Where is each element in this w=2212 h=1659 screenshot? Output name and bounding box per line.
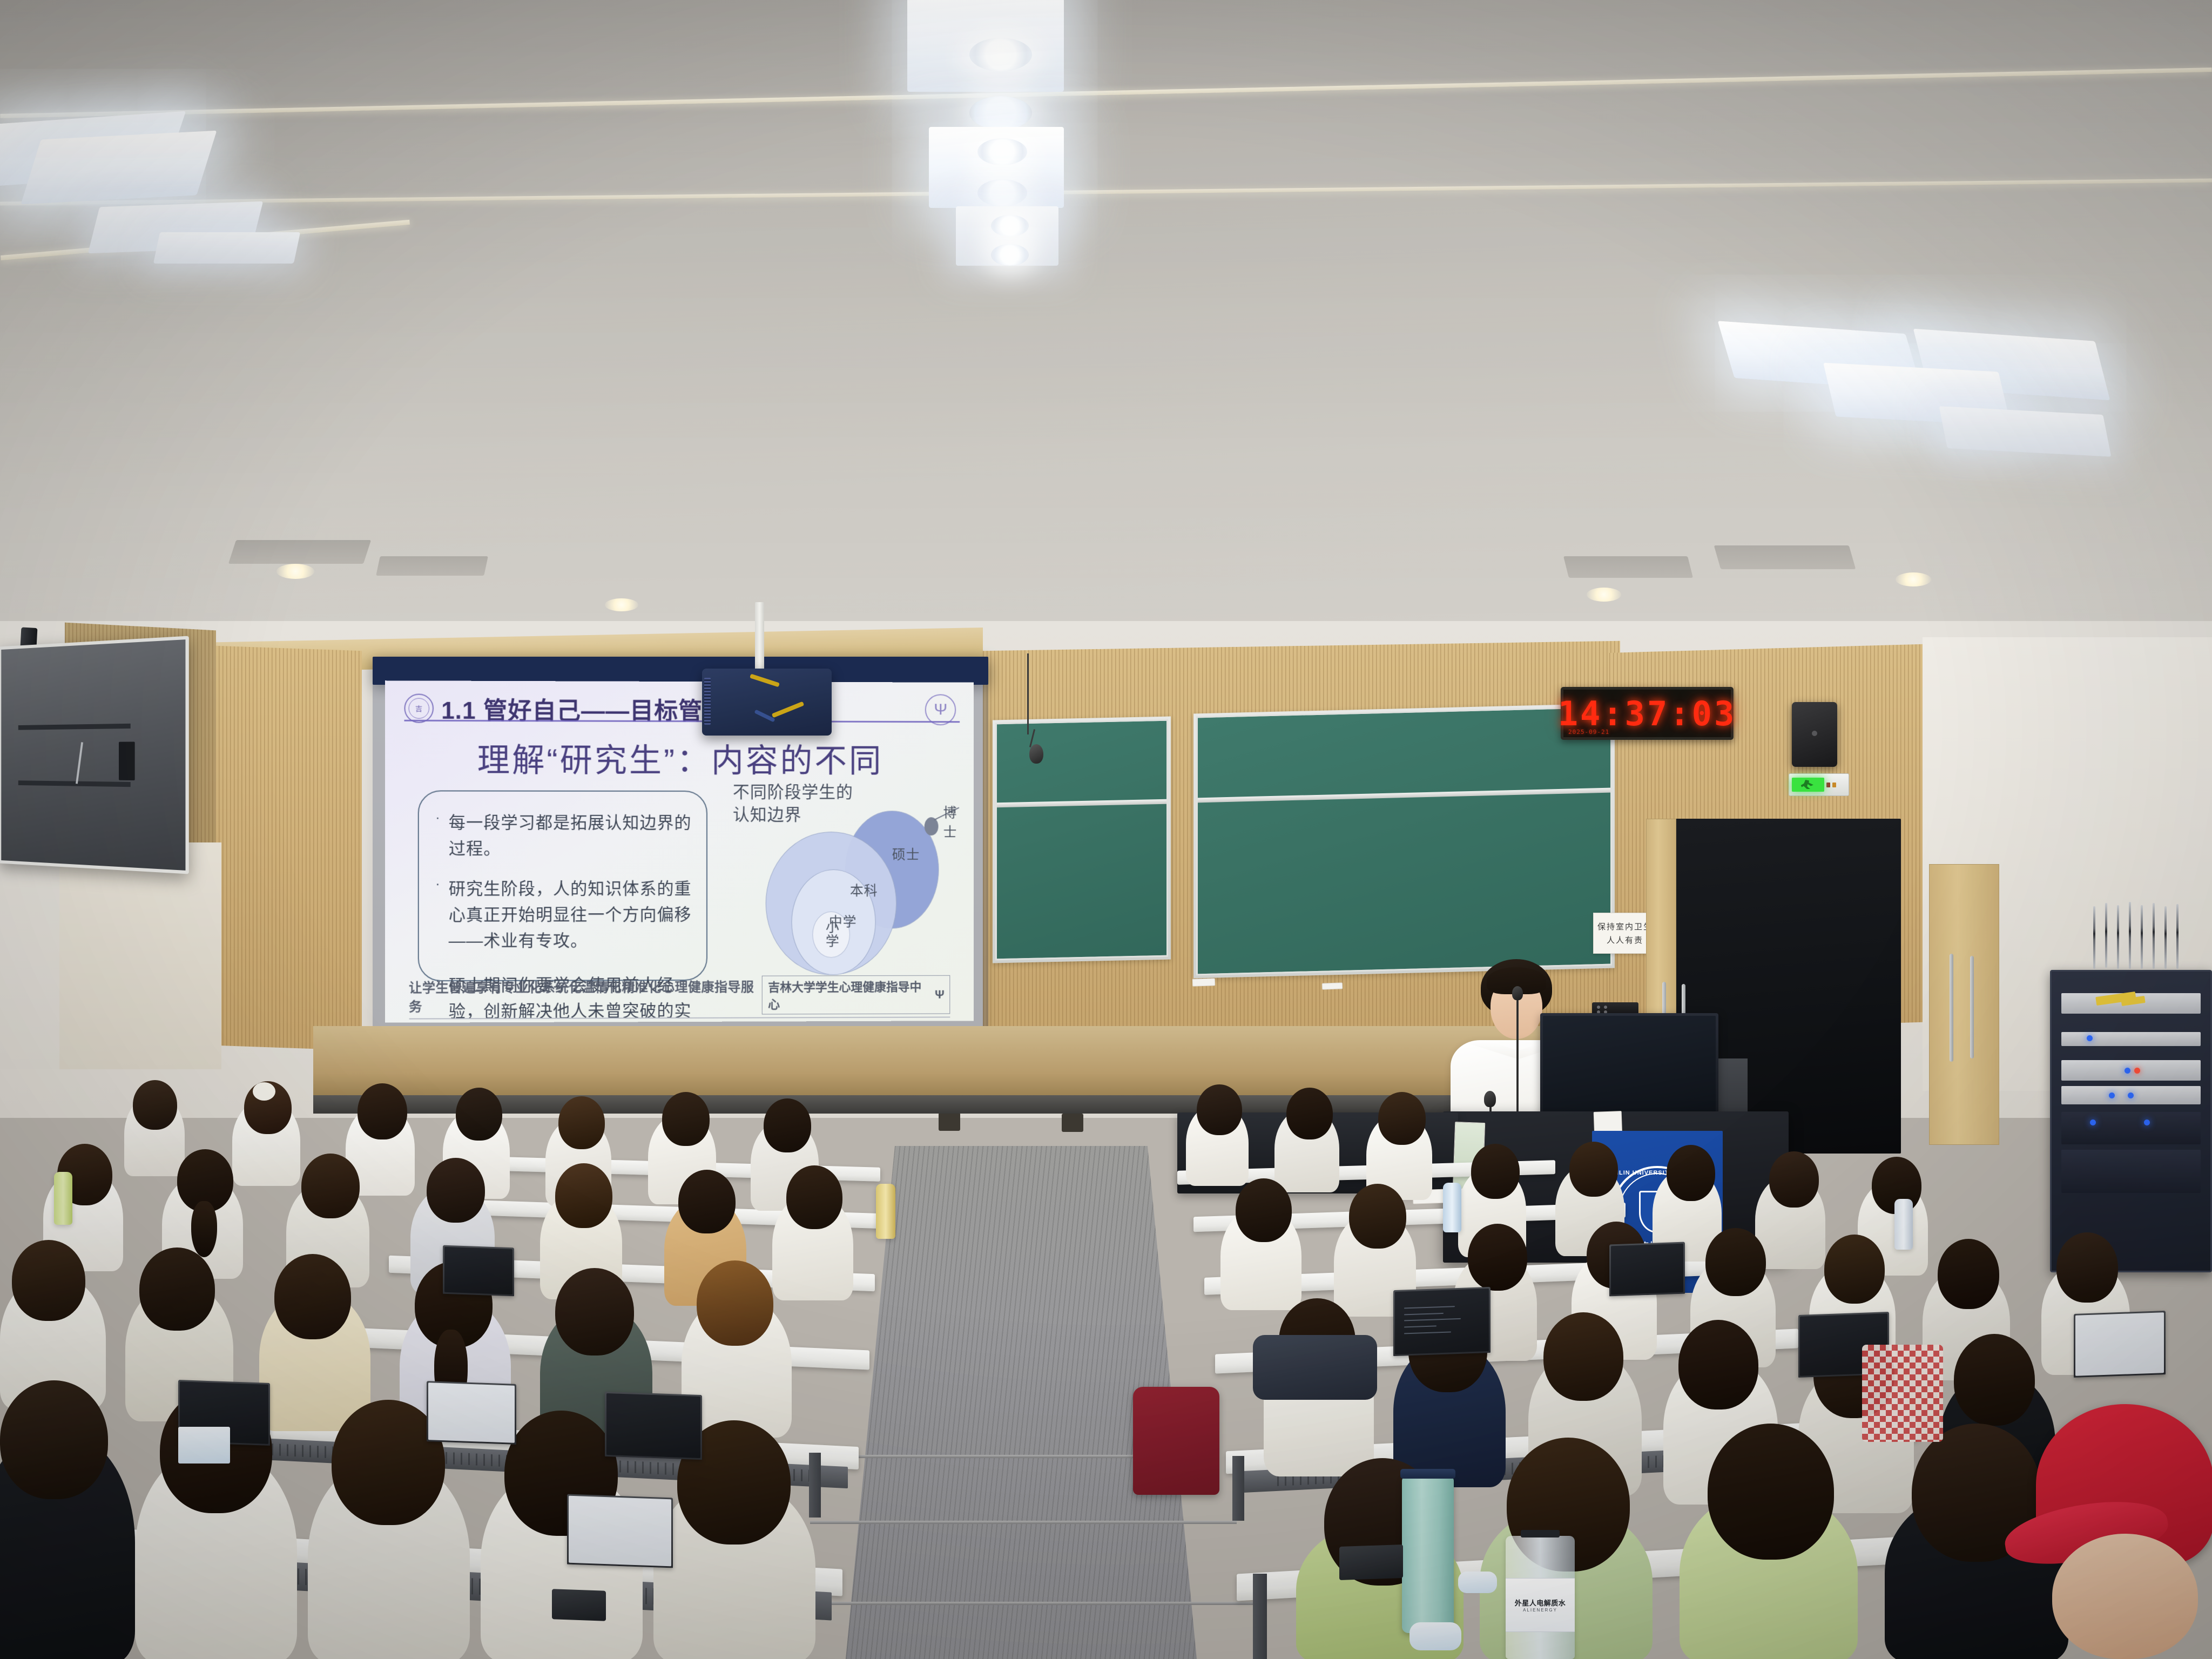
wall-speaker [1792, 702, 1837, 767]
audience-head [1569, 1142, 1618, 1197]
student-laptop[interactable] [1609, 1242, 1685, 1297]
audience-head [133, 1080, 177, 1130]
slide-footer: 让学生普遍享有专业化系统化温情化精准化心理健康指导服务 吉林大学学生心理健康指导… [385, 975, 974, 1016]
audience-head [456, 1088, 502, 1141]
bullet-dot-icon: · [435, 876, 440, 892]
audience-head [1378, 1092, 1426, 1145]
bottle-brand-en: ALIENERGY [1523, 1608, 1557, 1613]
drink-bottle [1443, 1183, 1461, 1232]
audience-head [274, 1254, 351, 1339]
laptop-screen [569, 1496, 671, 1567]
audience-head [1543, 1312, 1623, 1401]
venn-doctor-dot [925, 817, 939, 835]
wall-socket [939, 1112, 960, 1131]
audience-head [555, 1268, 634, 1355]
running-man-icon [1792, 778, 1824, 792]
aisle-step-edge [786, 1602, 1262, 1605]
tv-cable [76, 742, 83, 784]
slide-footer-org: 吉林大学学生心理健康指导中心 [768, 977, 930, 1013]
audience-head [1705, 1228, 1766, 1296]
student-laptop[interactable] [1393, 1287, 1491, 1356]
wood-wall-left [200, 645, 362, 1050]
bullet-text: 每一段学习都是拓展认知边界的过程。 [449, 810, 692, 862]
rack-antenna-icon [2117, 905, 2119, 969]
rack-unit-blank-1 [2061, 1112, 2201, 1144]
code-line [1404, 1325, 1436, 1327]
slide-bullet-box: · 每一段学习都是拓展认知边界的过程。 · 研究生阶段，人的知识体系的重心真正开… [418, 790, 707, 982]
wall-mounted-tv-back [0, 636, 189, 874]
rack-led-indicator [2144, 1120, 2150, 1125]
rack-unit-amp-1 [2061, 1060, 2201, 1081]
lectern-microphone-head-icon [1484, 1091, 1496, 1107]
chalkboard-left [993, 717, 1171, 963]
lectern-monitor-screen [1543, 1016, 1716, 1116]
stage-front-edge [313, 1095, 1642, 1114]
plate-indicator-icon [1597, 1006, 1600, 1009]
desk-leg [1253, 1574, 1267, 1659]
ceiling-recess-left2 [376, 556, 488, 576]
ceiling-downlight-2 [969, 96, 1032, 130]
projection-screen: 吉 1.1 管好自己——目标管理 Ψ 理解“研究生”：内容的不同 · 每一段学习… [385, 680, 974, 1023]
ceiling-light-panel-left-near2 [153, 232, 300, 264]
audience-head [555, 1163, 612, 1228]
laptop-screen [444, 1247, 512, 1294]
notice-line-1: 保持室内卫生 [1597, 921, 1653, 932]
audience-head [1286, 1088, 1333, 1139]
ceiling-recess-right2 [1714, 545, 1856, 569]
ceiling-light-cove-3 [0, 179, 2212, 206]
projector-cable-icon [772, 702, 804, 718]
plate-indicator-icon [1604, 1006, 1607, 1009]
code-line [1404, 1306, 1455, 1309]
audience-head [1769, 1151, 1819, 1208]
tumbler-lid [1400, 1469, 1455, 1479]
rack-led-indicator [2087, 1035, 2093, 1041]
audience-head [662, 1092, 710, 1146]
ceiling-light-cove-2 [0, 68, 2211, 118]
aisle-step-edge [810, 1521, 1237, 1524]
ceiling-spot-4 [1587, 588, 1621, 602]
laptop-screen [428, 1382, 515, 1443]
audience-head [1236, 1178, 1292, 1242]
ceiling-downlight-1 [969, 38, 1032, 71]
clock-time-display: 14:37:03 [1558, 694, 1737, 733]
university-seal-icon: 吉 [404, 693, 434, 723]
tissue-wad [1458, 1572, 1497, 1593]
tv-port-panel [119, 741, 135, 780]
hanging-microphone [1025, 653, 1047, 767]
chalkboard-right [1193, 703, 1615, 978]
slide-footer-org-box: 吉林大学学生心理健康指导中心 Ψ [762, 975, 950, 1015]
rack-antenna-icon [2129, 902, 2131, 969]
student-laptop[interactable] [427, 1381, 516, 1445]
ceiling-light-panel-right-near [1939, 406, 2112, 457]
exit-sign-indicator-icon [1826, 783, 1830, 787]
backpack-on-floor [1133, 1387, 1219, 1495]
door-handle-icon[interactable] [1970, 956, 1974, 1058]
travel-tumbler [1402, 1476, 1454, 1633]
chalkboard-rail [997, 799, 1166, 808]
wall-socket [1062, 1114, 1083, 1132]
audience-head [1468, 1224, 1527, 1291]
drink-bottle [1894, 1199, 1913, 1250]
projector [702, 669, 832, 736]
rack-led-indicator [2109, 1092, 2115, 1098]
drink-bottle: 外星人电解质水 ALIENERGY [1506, 1536, 1575, 1659]
tissue-wad [1410, 1622, 1461, 1650]
ceiling-light-panel-left-mid [21, 131, 217, 205]
venn-label-primary: 小学 [824, 920, 838, 948]
bottle-label: 外星人电解质水 ALIENERGY [1506, 1578, 1575, 1632]
audience-head [1824, 1235, 1885, 1304]
drink-bottle [54, 1172, 72, 1225]
projector-mount-pole [755, 602, 764, 671]
tv-bracket [18, 780, 131, 787]
audience-head [786, 1165, 842, 1229]
chalk-tray-paper [1322, 982, 1343, 989]
chalk-tray-paper [1192, 978, 1215, 986]
chalkboard-rail [1198, 788, 1610, 803]
smartphone-on-desk[interactable] [552, 1589, 606, 1621]
code-line [1404, 1331, 1451, 1334]
ceiling-recess-left [228, 540, 371, 564]
chalkboard-right-surface [1196, 706, 1612, 976]
chalkboard-left-surface [995, 719, 1168, 961]
projector-cable-icon [750, 674, 780, 687]
audience-head [139, 1247, 215, 1331]
notice-line-2: 人人有责 [1607, 934, 1643, 946]
audience-head [1954, 1334, 2035, 1426]
student-laptop[interactable] [2074, 1311, 2166, 1378]
ceiling-recess-right [1563, 556, 1693, 578]
slide-footer-org-logo-icon: Ψ [935, 988, 945, 1002]
laptop-screen [606, 1393, 700, 1458]
laptop-screen [2075, 1312, 2164, 1376]
slide-bullet: · 每一段学习都是拓展认知边界的过程。 [435, 810, 692, 862]
bottle-cap [1521, 1530, 1560, 1537]
laptop-screen [1395, 1289, 1489, 1354]
tv-bracket [18, 724, 131, 730]
audience-head [1678, 1320, 1758, 1410]
mic-wire [1027, 653, 1029, 734]
desk-leg [1232, 1456, 1244, 1521]
jacket-on-desk [1253, 1335, 1377, 1400]
rack-unit-switch [2061, 1032, 2201, 1046]
rack-led-indicator [2134, 1068, 2140, 1074]
audience-head [1471, 1144, 1520, 1199]
rack-antenna-icon [2164, 906, 2167, 969]
audience-head [1349, 1184, 1406, 1249]
ceiling-downlight-4 [977, 179, 1027, 206]
audience-head [358, 1083, 407, 1139]
ceiling [0, 0, 2212, 664]
audience-head [2056, 1232, 2118, 1303]
drink-bottle [876, 1184, 895, 1239]
lecture-hall-photo: 吉 1.1 管好自己——目标管理 Ψ 理解“研究生”：内容的不同 · 每一段学习… [0, 0, 2212, 1659]
audience-head [1708, 1424, 1834, 1560]
audience-head [301, 1154, 360, 1218]
student-laptop[interactable] [443, 1245, 514, 1297]
projector-vent [704, 678, 711, 725]
door-handle-icon[interactable] [1950, 954, 1953, 1062]
wall-left-lower [59, 842, 221, 1069]
exit-sign-indicator-icon [1832, 783, 1836, 787]
digital-wall-clock: 14:37:03 2025-09-21 [1561, 687, 1734, 740]
audience-head [697, 1260, 773, 1346]
audience-head [12, 1240, 85, 1321]
laptop-screen [1611, 1244, 1683, 1295]
rack-antenna-icon [2105, 903, 2107, 968]
lectern-microphone-head-icon [1512, 986, 1523, 1000]
code-line [1404, 1318, 1460, 1321]
venn-diagram: 不同阶段学生的 认知边界 博士 硕士 本科 中学 小学 [728, 777, 962, 988]
bullet-dot-icon: · [435, 810, 440, 825]
ceiling-downlight-6 [991, 244, 1029, 266]
ceiling-spot-5 [1896, 572, 1931, 586]
student-laptop[interactable] [605, 1392, 702, 1460]
venn-caption: 不同阶段学生的 认知边界 [733, 781, 853, 826]
audience-ponytail [191, 1201, 217, 1257]
seal-inner-label: 吉 [408, 698, 429, 718]
code-line [1404, 1313, 1444, 1316]
audience-head [1938, 1239, 1999, 1309]
slide-footer-slogan: 让学生普遍享有专业化系统化温情化精准化心理健康指导服务 [409, 976, 762, 1015]
ceiling-downlight-3 [977, 138, 1027, 165]
red-checked-cloth [1862, 1345, 1943, 1442]
rack-antenna-icon [2176, 904, 2179, 969]
bullet-text: 研究生阶段，人的知识体系的重心真正开始明显往一个方向偏移——术业有专攻。 [449, 876, 692, 954]
student-laptop[interactable] [567, 1494, 673, 1568]
venn-label-bachelor: 本科 [850, 880, 878, 900]
slide-main-title: 理解“研究生”：内容的不同 [385, 733, 974, 781]
rack-unit-blank-2 [2061, 1150, 2201, 1193]
rack-antenna-icon [2141, 905, 2143, 969]
mic-capsule-icon [1029, 744, 1043, 764]
venn-label-doctor: 博士 [943, 802, 962, 841]
clock-date-display: 2025-09-21 [1568, 729, 1609, 736]
slide-bullet: · 研究生阶段，人的知识体系的重心真正开始明显往一个方向偏移——术业有专攻。 [435, 876, 692, 954]
audience-hair-clip [253, 1082, 275, 1101]
bottle-brand-cn: 外星人电解质水 [1515, 1597, 1566, 1608]
rack-antenna-icon [2093, 906, 2095, 969]
desk-leg [809, 1453, 821, 1518]
rack-led-indicator [2090, 1120, 2096, 1125]
audience-head [427, 1158, 485, 1223]
audience-head [678, 1170, 736, 1233]
exit-sign-right [1789, 773, 1849, 796]
rack-antenna-icon [2153, 903, 2155, 969]
tissue-box [178, 1427, 230, 1464]
audience-head [0, 1380, 108, 1499]
audience-head [558, 1096, 605, 1149]
audience-head-with-cap [2052, 1534, 2198, 1659]
smartphone-on-desk[interactable] [1339, 1545, 1403, 1580]
side-door-right [1929, 864, 1999, 1145]
venn-label-master: 硕士 [892, 844, 920, 864]
lectern-monitor[interactable] [1540, 1013, 1718, 1121]
audience-head [1197, 1084, 1242, 1135]
audience-head [1667, 1145, 1715, 1201]
audience-head [764, 1098, 811, 1152]
ceiling-spot-1 [276, 564, 314, 579]
ceiling-downlight-5 [991, 215, 1029, 237]
ceiling-spot-2 [605, 598, 638, 611]
signal-jammer-rack [2050, 970, 2212, 1272]
